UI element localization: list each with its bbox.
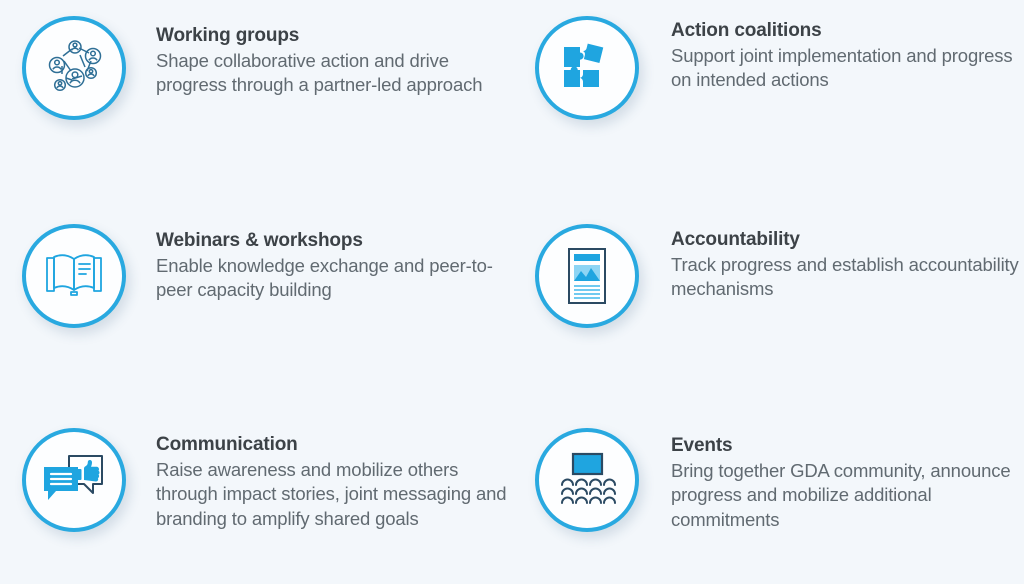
network-people-icon: [22, 16, 126, 120]
feature-grid: Working groups Shape collaborative actio…: [0, 0, 1024, 584]
presentation-audience-icon: [535, 428, 639, 532]
feature-title: Events: [671, 434, 1023, 458]
feature-description: Shape collaborative action and drive pro…: [156, 49, 508, 98]
feature-text: Events Bring together GDA community, ann…: [671, 428, 1023, 533]
feature-text: Working groups Shape collaborative actio…: [156, 16, 508, 98]
feature-title: Webinars & workshops: [156, 229, 508, 253]
feature-text: Action coalitions Support joint implemen…: [671, 16, 1023, 93]
feature-card-communication: Communication Raise awareness and mobili…: [0, 410, 512, 584]
feature-title: Accountability: [671, 228, 1023, 252]
feature-text: Webinars & workshops Enable knowledge ex…: [156, 224, 508, 303]
speech-bubbles-thumbs-up-icon: [22, 428, 126, 532]
feature-title: Working groups: [156, 24, 508, 48]
feature-card-working-groups: Working groups Shape collaborative actio…: [0, 0, 512, 204]
report-document-icon: [535, 224, 639, 328]
feature-description: Support joint implementation and progres…: [671, 44, 1023, 93]
feature-card-action-coalitions: Action coalitions Support joint implemen…: [512, 0, 1024, 204]
feature-card-events: Events Bring together GDA community, ann…: [512, 410, 1024, 584]
feature-title: Action coalitions: [671, 19, 1023, 43]
feature-description: Track progress and establish accountabil…: [671, 253, 1023, 302]
open-book-icon: [22, 224, 126, 328]
feature-card-webinars-workshops: Webinars & workshops Enable knowledge ex…: [0, 204, 512, 410]
feature-description: Enable knowledge exchange and peer-to-pe…: [156, 254, 508, 303]
feature-card-accountability: Accountability Track progress and establ…: [512, 204, 1024, 410]
puzzle-pieces-icon: [535, 16, 639, 120]
feature-description: Raise awareness and mobilize others thro…: [156, 458, 508, 532]
feature-title: Communication: [156, 433, 508, 457]
feature-text: Accountability Track progress and establ…: [671, 224, 1023, 302]
feature-description: Bring together GDA community, announce p…: [671, 459, 1023, 533]
feature-text: Communication Raise awareness and mobili…: [156, 428, 508, 532]
